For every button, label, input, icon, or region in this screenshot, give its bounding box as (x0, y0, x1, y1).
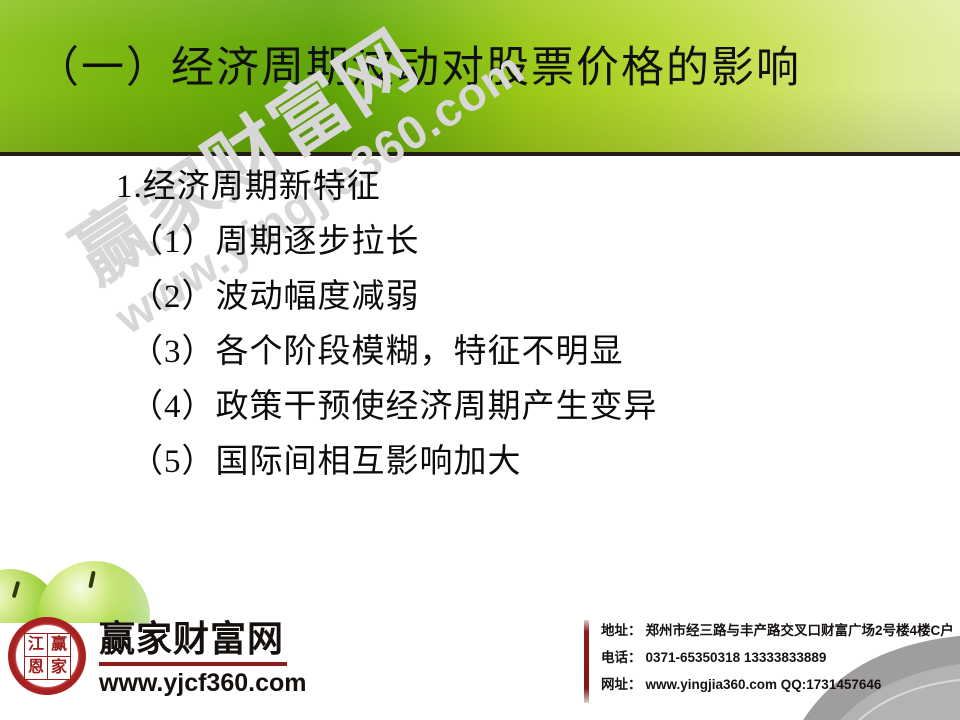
contact-row-website: 网址：www.yingjia360.com QQ:1731457646 (601, 671, 960, 698)
brand-name-text: 赢家财富网 (99, 619, 349, 659)
body-content-list: 1.经济周期新特征 （1）周期逐步拉长 （2）波动幅度减弱 （3）各个阶段模糊，… (0, 160, 960, 490)
contact-value-website: www.yingjia360.com QQ:1731457646 (646, 677, 882, 692)
brand-wordmark: 赢家财富网 www.yjcf360.com (99, 619, 349, 698)
contact-row-phone: 电话：0371-65350318 13333833889 (601, 644, 960, 671)
list-item: （4）政策干预使经济周期产生变异 (0, 380, 960, 435)
list-item: （1）周期逐步拉长 (0, 215, 960, 270)
seal-character-grid: 江 赢 恩 家 (24, 633, 71, 680)
seal-char: 赢 (48, 634, 70, 656)
contact-label-phone: 电话： (601, 650, 642, 665)
slide-canvas: （一）经济周期波动对股票价格的影响 赢家财富网 www.yingjia360.c… (0, 0, 960, 720)
header-divider-rule (0, 152, 960, 156)
contact-divider-bar (584, 620, 589, 703)
apples-image (0, 555, 178, 623)
contact-value-phone: 0371-65350318 13333833889 (646, 650, 827, 665)
contact-label-website: 网址： (601, 677, 642, 692)
list-item: （2）波动幅度减弱 (0, 270, 960, 325)
seal-logo-icon: 江 赢 恩 家 (8, 617, 94, 703)
page-title: （一）经济周期波动对股票价格的影响 (36, 40, 926, 98)
footer: 江 赢 恩 家 赢家财富网 www.yjcf360.com 地址：郑州市经三路与… (0, 555, 960, 720)
brand-url-text: www.yjcf360.com (99, 668, 349, 698)
list-item: 1.经济周期新特征 (0, 160, 960, 215)
seal-char: 恩 (25, 657, 47, 679)
seal-char: 江 (25, 634, 47, 656)
contact-label-address: 地址： (601, 623, 642, 638)
list-item: （3）各个阶段模糊，特征不明显 (0, 325, 960, 380)
contact-row-address: 地址：郑州市经三路与丰产路交叉口财富广场2号楼4楼C户 (601, 617, 960, 644)
contact-value-address: 郑州市经三路与丰产路交叉口财富广场2号楼4楼C户 (646, 623, 954, 638)
contact-info-block: 地址：郑州市经三路与丰产路交叉口财富广场2号楼4楼C户 电话：0371-6535… (601, 617, 960, 698)
seal-char: 家 (48, 657, 70, 679)
brand-underline-rule (99, 662, 287, 666)
apples-image-fade (0, 555, 178, 623)
list-item: （5）国际间相互影响加大 (0, 435, 960, 490)
